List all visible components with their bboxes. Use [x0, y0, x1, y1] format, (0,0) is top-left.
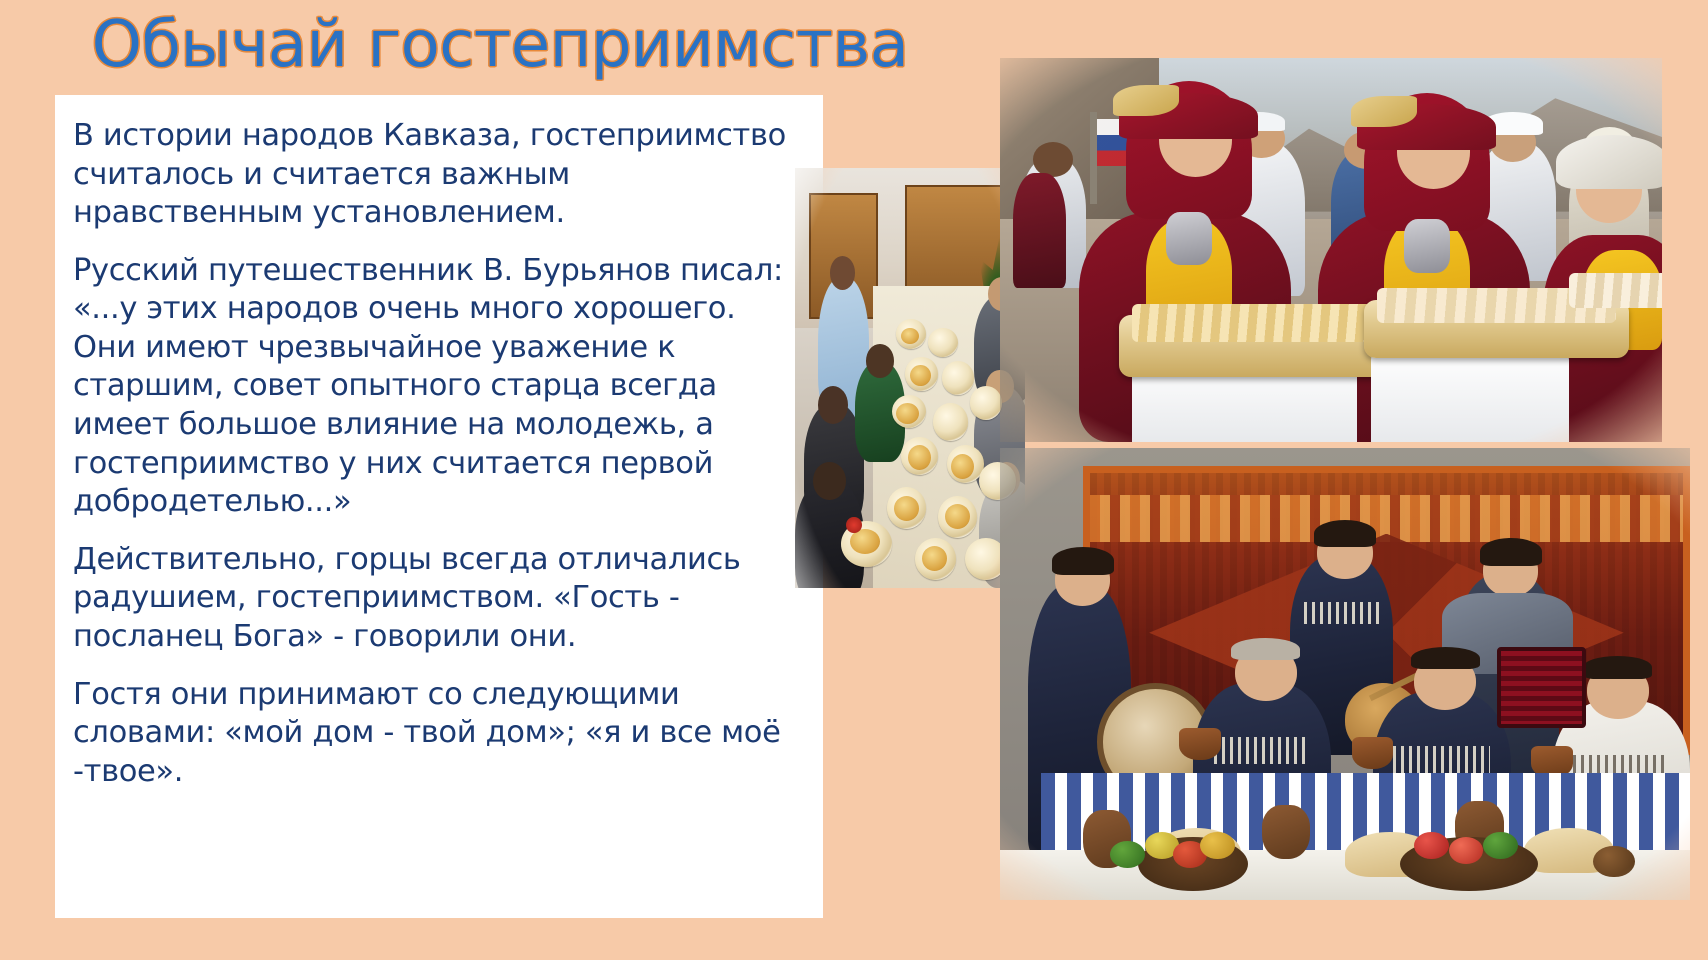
paragraph-3: Действительно, горцы всегда отличались р… [73, 541, 797, 657]
feast-musicians-photo [1000, 448, 1690, 900]
women-with-bread-photo [1000, 58, 1662, 442]
banquet-table-photo [795, 168, 1025, 588]
paragraph-4: Гостя они принимают со следующими словам… [73, 676, 797, 792]
slide-title: Обычай гостеприимства [0, 8, 1000, 82]
presentation-slide: Обычай гостеприимства В истории народов … [0, 0, 1708, 960]
paragraph-1: В истории народов Кавказа, гостеприимств… [73, 117, 797, 233]
content-text-panel: В истории народов Кавказа, гостеприимств… [55, 95, 823, 918]
paragraph-2: Русский путешественник В. Бурьянов писал… [73, 252, 797, 522]
